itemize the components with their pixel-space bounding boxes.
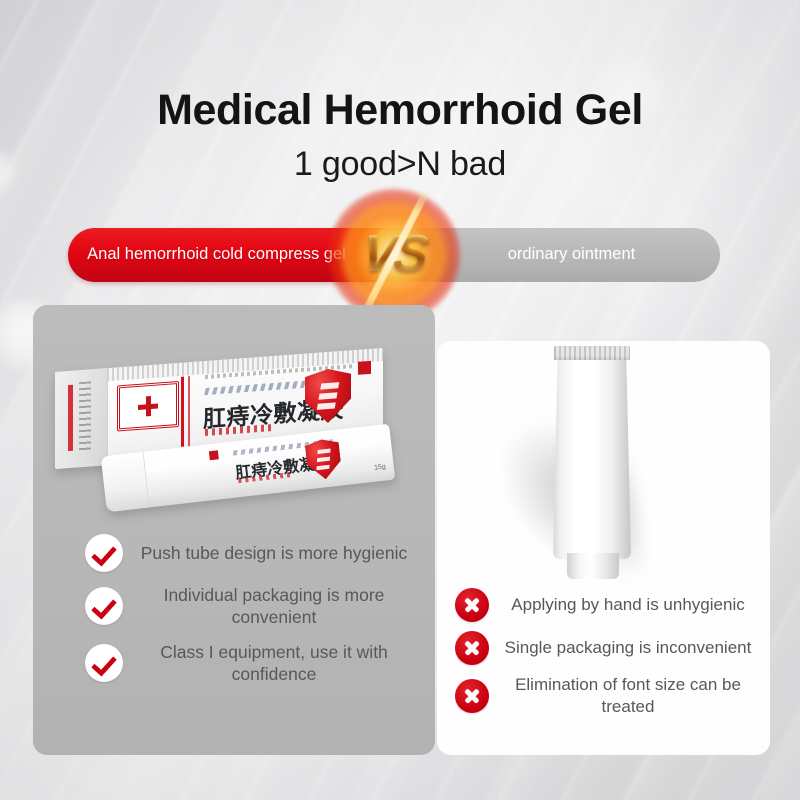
list-item: Elimination of font size can be treated	[455, 674, 755, 718]
poster: Medical Hemorrhoid Gel 1 good>N bad Anal…	[0, 0, 800, 800]
list-item: Single packaging is inconvenient	[455, 631, 755, 665]
list-item-label: Class I equipment, use it with confidenc…	[123, 641, 415, 686]
close-icon	[455, 679, 489, 713]
comparison-left-pill: Anal hemorrhoid cold compress gel	[68, 228, 413, 282]
box-side-red-bar	[68, 385, 73, 451]
plain-tube-crimp-seal	[554, 346, 630, 360]
page-subtitle: 1 good>N bad	[0, 145, 800, 184]
tube-cap	[101, 452, 150, 513]
box-red-mark-icon	[358, 361, 371, 375]
list-item-label: Push tube design is more hygienic	[123, 542, 415, 564]
page-title: Medical Hemorrhoid Gel	[0, 86, 800, 135]
list-item-label: Elimination of font size can be treated	[489, 674, 755, 718]
close-icon	[455, 588, 489, 622]
tube-weight-label: 15g	[374, 463, 386, 471]
plain-tube-cap	[567, 553, 619, 579]
plain-tube-photo	[505, 345, 695, 595]
comparison-bar: Anal hemorrhoid cold compress gel ordina…	[68, 228, 720, 282]
list-item: Push tube design is more hygienic	[85, 534, 415, 572]
box-side-vertical-text	[79, 381, 91, 454]
comparison-right-pill: ordinary ointment	[377, 228, 720, 282]
box-red-rule	[188, 376, 190, 446]
check-icon	[85, 644, 123, 682]
list-item: Individual packaging is more convenient	[85, 584, 415, 629]
comparison-left-label: Anal hemorrhoid cold compress gel	[87, 245, 394, 265]
list-item: Class I equipment, use it with confidenc…	[85, 641, 415, 686]
close-icon	[455, 631, 489, 665]
box-red-rule	[181, 377, 184, 447]
list-item: Applying by hand is unhygienic	[455, 588, 755, 622]
list-item-label: Applying by hand is unhygienic	[489, 594, 755, 616]
comparison-right-label: ordinary ointment	[462, 245, 635, 265]
tube-red-mark-icon	[209, 450, 219, 460]
branded-product-photo: 肛痔冷敷凝胶 15g 肛痔冷敷凝胶 15g	[45, 355, 405, 515]
check-icon	[85, 587, 123, 625]
list-item-label: Single packaging is inconvenient	[489, 637, 755, 659]
drawbacks-list: Applying by hand is unhygienic Single pa…	[455, 588, 755, 727]
box-cross-badge-icon	[117, 381, 179, 432]
check-icon	[85, 534, 123, 572]
box-side-face	[55, 368, 108, 469]
list-item-label: Individual packaging is more convenient	[123, 584, 415, 629]
advantages-list: Push tube design is more hygienic Indivi…	[85, 534, 415, 698]
plain-tube-body	[553, 359, 631, 559]
